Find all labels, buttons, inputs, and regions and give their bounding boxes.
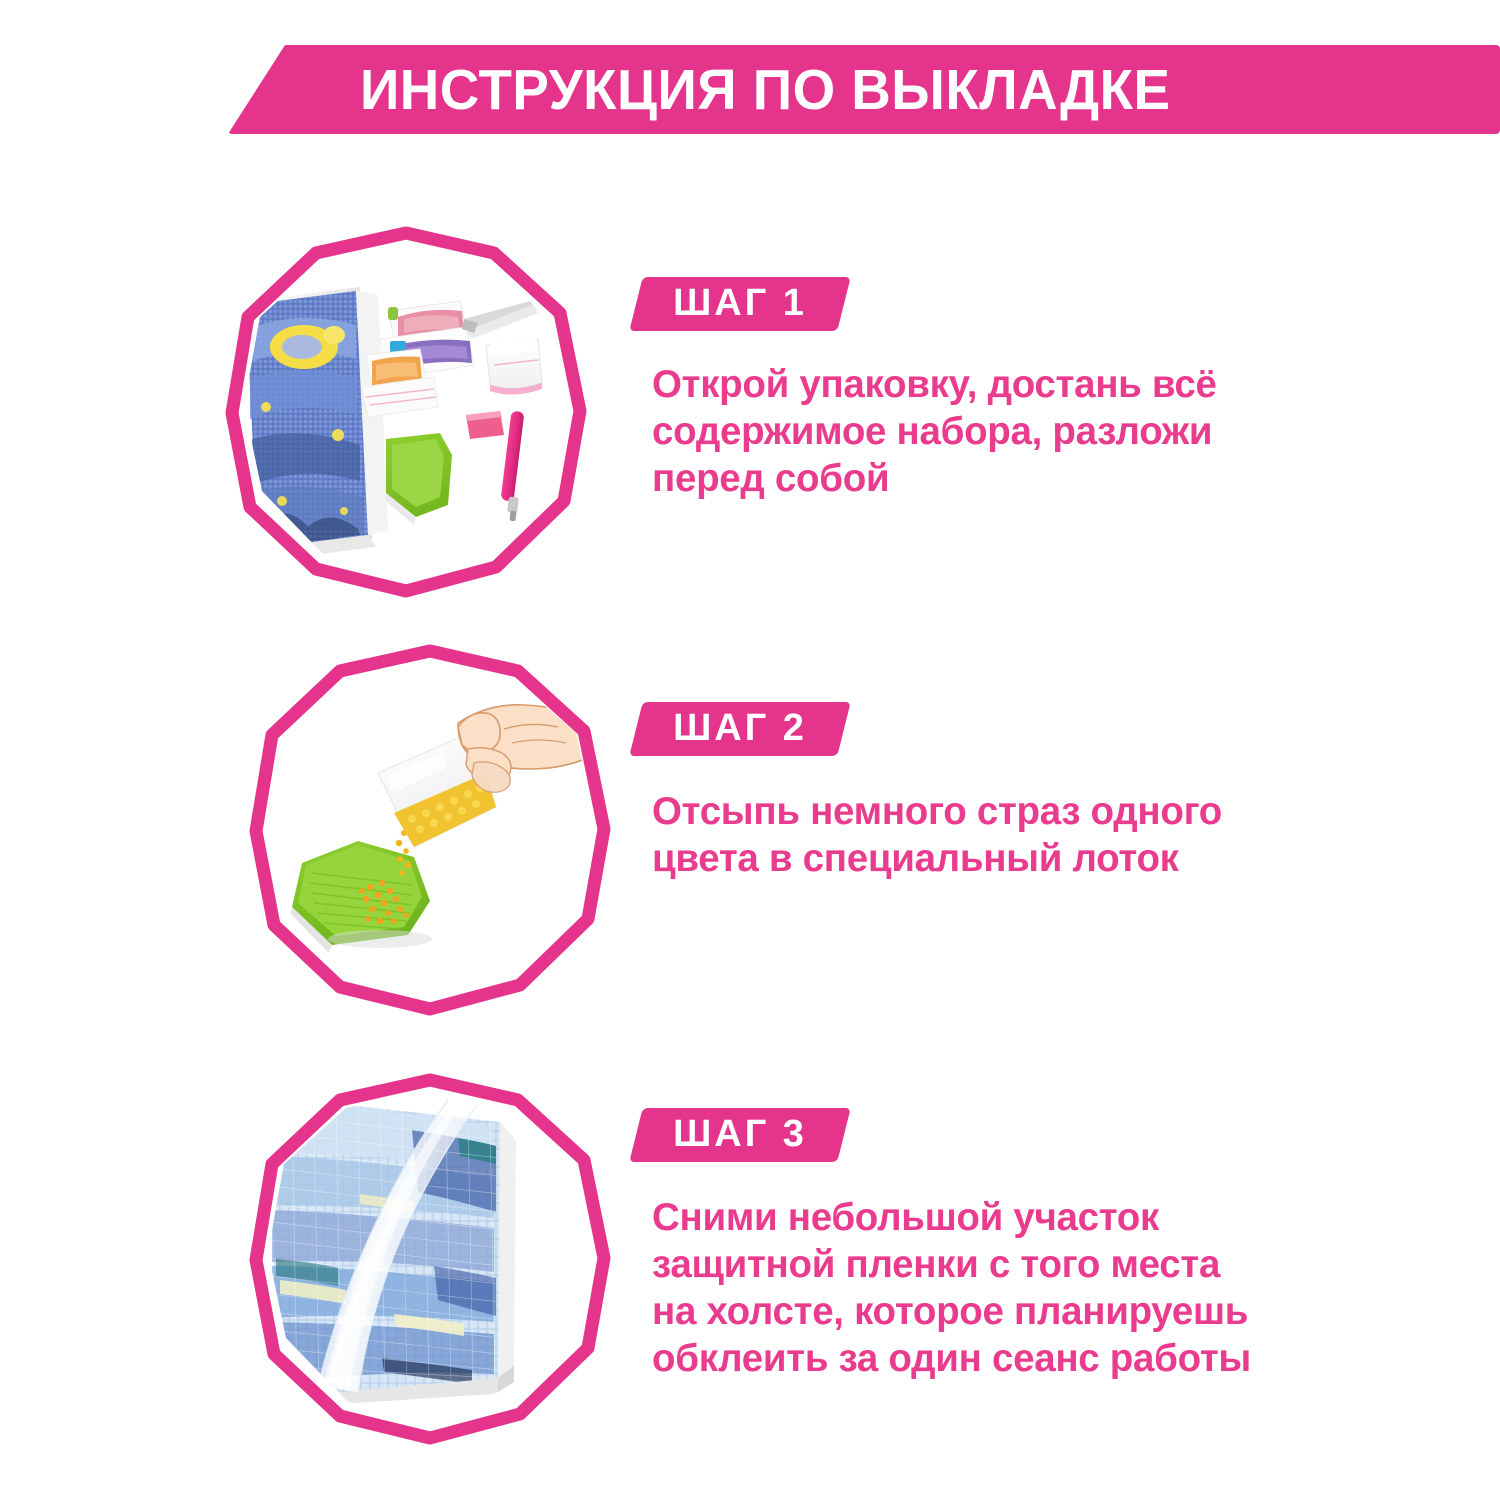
step-2-badge: ШАГ 2 (636, 702, 844, 756)
wax-container (486, 338, 542, 395)
instruction-infographic: ИНСТРУКЦИЯ ПО ВЫКЛАДКЕ (0, 0, 1500, 1500)
peeling-film-photo (262, 1086, 598, 1432)
step-3-text: Сними небольшой участок защитной пленки … (652, 1194, 1332, 1382)
step-1-illustration (222, 223, 590, 601)
step-1-text: Открой упаковку, достань всё содержимое … (652, 361, 1312, 502)
wax-block (466, 411, 504, 439)
pouring-svg (262, 657, 598, 1003)
step-3-badge-label: ШАГ 3 (636, 1108, 844, 1162)
kit-contents-photo (238, 239, 574, 585)
page-title: ИНСТРУКЦИЯ ПО ВЫКЛАДКЕ (360, 53, 1368, 127)
step-row-3: ШАГ 3 Сними небольшой участок защитной п… (0, 1060, 1500, 1460)
pouring-rhinestones-illustration (262, 657, 598, 1003)
canvas-starry-night (246, 287, 388, 561)
peeling-film-svg (262, 1086, 598, 1432)
step-3-badge: ШАГ 3 (636, 1108, 844, 1162)
step-row-1: ШАГ 1 Открой упаковку, достань всё содер… (0, 215, 1500, 635)
step-1-badge-label: ШАГ 1 (636, 277, 844, 331)
step-1-badge: ШАГ 1 (636, 277, 844, 331)
step-3-illustration (246, 1070, 614, 1448)
step-2-badge-label: ШАГ 2 (636, 702, 844, 756)
step-2-illustration (246, 641, 614, 1019)
step-2-text: Отсыпь немного страз одного цвета в спец… (652, 788, 1312, 882)
step-row-2: ШАГ 2 Отсыпь немного страз одного цвета … (0, 635, 1500, 1045)
kit-contents-svg (238, 239, 574, 585)
